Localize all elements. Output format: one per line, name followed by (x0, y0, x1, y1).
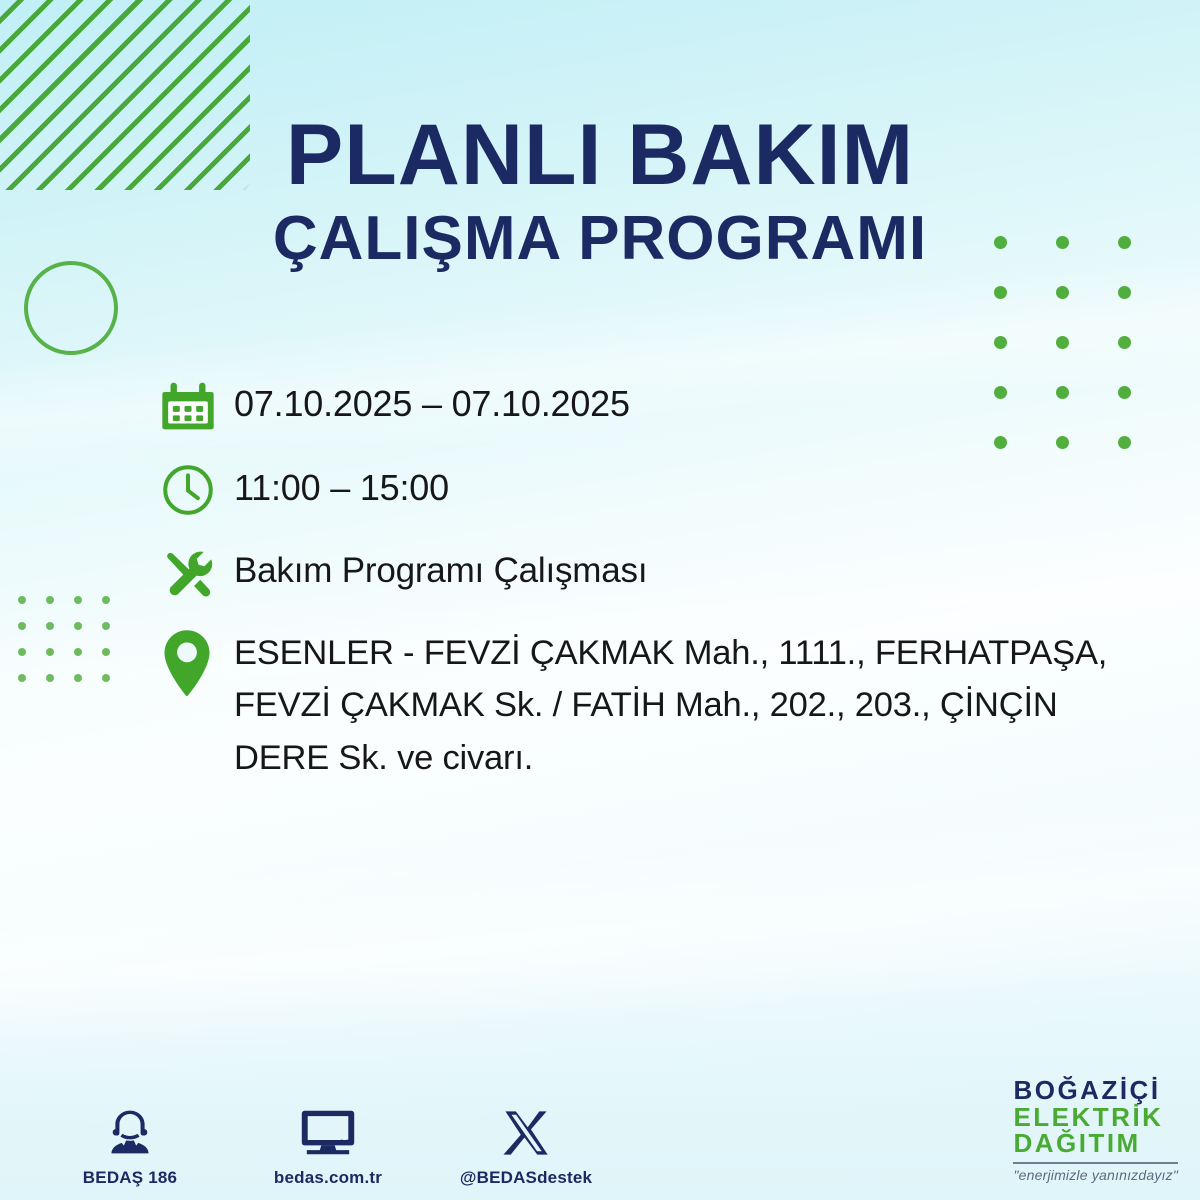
contact-website[interactable]: bedas.com.tr (258, 1101, 398, 1188)
bedas-logo: BOĞAZİÇİ ELEKTRİK DAĞITIM "enerjimizle y… (1013, 1077, 1178, 1182)
contact-label: @BEDASdestek (456, 1168, 596, 1188)
logo-line-1: BOĞAZİÇİ (1013, 1077, 1178, 1104)
address-line: DERE Sk. ve civarı. (234, 732, 1170, 784)
circle-outline-decoration (24, 261, 118, 355)
contact-phone[interactable]: BEDAŞ 186 (60, 1101, 200, 1188)
monitor-icon (258, 1101, 398, 1159)
detail-value-time: 11:00 – 15:00 (234, 459, 1170, 510)
detail-row-work-type: Bakım Programı Çalışması (160, 543, 1170, 605)
page-title: PLANLI BAKIM ÇALIŞMA PROGRAMI (0, 112, 1200, 270)
headset-operator-icon (60, 1101, 200, 1159)
contact-channels: BEDAŞ 186 bedas.com.tr (60, 1101, 596, 1188)
detail-value-date: 07.10.2025 – 07.10.2025 (234, 375, 1170, 426)
planned-maintenance-poster: PLANLI BAKIM ÇALIŞMA PROGRAMI (0, 0, 1200, 1200)
x-social-icon (456, 1101, 596, 1159)
title-line-2: ÇALIŞMA PROGRAMI (0, 208, 1200, 270)
location-pin-icon (160, 627, 234, 701)
logo-divider (1013, 1162, 1178, 1164)
address-line: FEVZİ ÇAKMAK Sk. / FATİH Mah., 202., 203… (234, 679, 1170, 731)
footer: BEDAŞ 186 bedas.com.tr (0, 1040, 1200, 1200)
clock-icon (160, 459, 234, 521)
detail-row-date: 07.10.2025 – 07.10.2025 (160, 375, 1170, 437)
details-list: 07.10.2025 – 07.10.2025 11:00 – 15:00 (160, 375, 1170, 784)
tools-icon (160, 543, 234, 605)
dot-grid-decoration-left (18, 596, 130, 700)
detail-value-address: ESENLER - FEVZİ ÇAKMAK Mah., 1111., FERH… (234, 627, 1170, 784)
logo-line-2: ELEKTRİK (1013, 1104, 1178, 1131)
logo-tagline: "enerjimizle yanınızdayız" (1013, 1168, 1178, 1182)
logo-line-3: DAĞITIM (1013, 1130, 1178, 1157)
contact-label: bedas.com.tr (258, 1168, 398, 1188)
calendar-icon (160, 375, 234, 437)
title-line-1: PLANLI BAKIM (0, 112, 1200, 198)
detail-value-work-type: Bakım Programı Çalışması (234, 543, 1170, 593)
detail-row-time: 11:00 – 15:00 (160, 459, 1170, 521)
address-line: ESENLER - FEVZİ ÇAKMAK Mah., 1111., FERH… (234, 627, 1170, 679)
contact-label: BEDAŞ 186 (60, 1168, 200, 1188)
detail-row-address: ESENLER - FEVZİ ÇAKMAK Mah., 1111., FERH… (160, 627, 1170, 784)
contact-x-social[interactable]: @BEDASdestek (456, 1101, 596, 1188)
